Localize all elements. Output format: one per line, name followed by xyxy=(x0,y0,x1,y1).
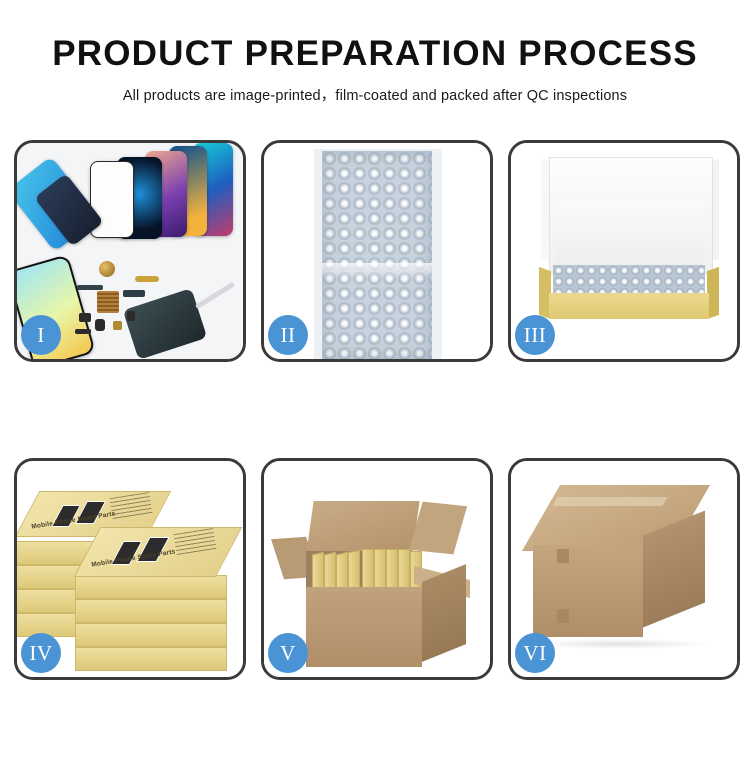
foam-sheet-icon xyxy=(557,201,703,273)
bubble-wrap-pouch-icon xyxy=(322,151,432,359)
small-part-icon xyxy=(95,319,105,331)
page-title: PRODUCT PREPARATION PROCESS xyxy=(0,36,750,71)
step-badge-1: I xyxy=(21,315,61,355)
carton-staple-icon xyxy=(557,609,569,623)
process-step-5[interactable]: V xyxy=(261,458,493,680)
bubble-wrap-highlight xyxy=(322,263,432,279)
speaker-part-icon xyxy=(99,261,115,277)
carton-front-icon xyxy=(533,545,643,637)
carton-front-icon xyxy=(306,587,422,667)
flex-cable-gold-icon xyxy=(135,276,159,282)
connector-grid-icon xyxy=(97,291,119,313)
carton-staple-icon xyxy=(557,549,569,563)
step-badge-2: II xyxy=(268,315,308,355)
process-grid: I II III xyxy=(0,140,750,776)
process-row-2: Mobile Phone Spare Parts Mobile Phone Sp… xyxy=(0,458,750,680)
small-part-icon xyxy=(127,311,135,321)
step-badge-5: V xyxy=(268,633,308,673)
bubble-wrapped-items-icon xyxy=(553,265,705,295)
small-part-icon xyxy=(75,329,91,334)
small-part-icon xyxy=(113,321,122,330)
process-row-1: I II III xyxy=(0,140,750,362)
carton-back-flap-icon xyxy=(306,501,419,553)
tray-front-icon xyxy=(549,293,709,319)
process-step-3[interactable]: III xyxy=(508,140,740,362)
step-badge-4: IV xyxy=(21,633,61,673)
process-step-6[interactable]: VI xyxy=(508,458,740,680)
process-step-2[interactable]: II xyxy=(261,140,493,362)
packing-tape-icon xyxy=(552,497,667,506)
process-step-1[interactable]: I xyxy=(14,140,246,362)
carton-shadow xyxy=(531,639,709,649)
process-step-4[interactable]: Mobile Phone Spare Parts Mobile Phone Sp… xyxy=(14,458,246,680)
flex-cable-icon xyxy=(77,285,103,290)
step-badge-6: VI xyxy=(515,633,555,673)
small-part-icon xyxy=(79,313,91,322)
page-header: PRODUCT PREPARATION PROCESS All products… xyxy=(0,0,750,105)
page-subtitle: All products are image-printed，film-coat… xyxy=(0,84,750,105)
step-badge-3: III xyxy=(515,315,555,355)
flex-cable-dark-icon xyxy=(123,290,145,297)
